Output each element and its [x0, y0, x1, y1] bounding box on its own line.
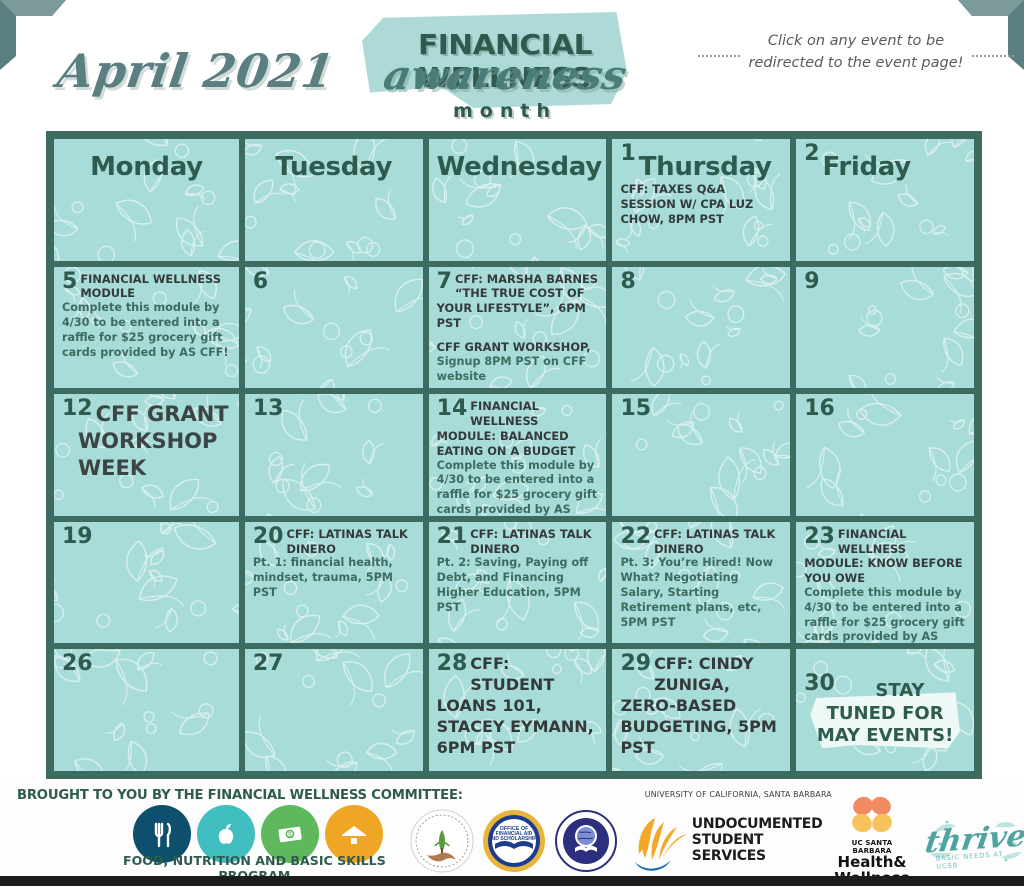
logo-fnbsp: $ FOOD, NUTRITION AND BASIC SKILLS PROGR… [114, 805, 403, 877]
event-text[interactable]: CFF GRANT WORKSHOP, [437, 340, 599, 355]
sponsor-logos: $ FOOD, NUTRITION AND BASIC SKILLS PROGR… [14, 804, 1014, 878]
calendar-day-cell[interactable]: 14FINANCIAL WELLNESS MODULE: BALANCED EA… [429, 394, 607, 516]
day-number: 16 [804, 399, 835, 420]
weekday-header-wednesday: Wednesday [437, 144, 599, 182]
click-hint-text: Click on any event to be redirected to t… [736, 30, 976, 75]
day-number: 9 [804, 272, 819, 293]
calendar-grid: Monday Tuesday [46, 131, 982, 779]
day-number: 2 [804, 144, 819, 165]
cell-content: Monday [62, 144, 231, 182]
weekday-header-thursday: Thursday [620, 144, 782, 182]
cell-content: 29CFF: CINDY ZUNIGA, ZERO-BASED BUDGETIN… [620, 654, 782, 758]
cell-content: 30STAY TUNED FOR MAY EVENTS! [804, 674, 966, 754]
event-text[interactable]: FINANCIAL WELLNESS MODULE [62, 272, 231, 302]
calendar-day-cell[interactable]: 29CFF: CINDY ZUNIGA, ZERO-BASED BUDGETIN… [612, 649, 790, 771]
event-text[interactable]: Complete this module by 4/30 to be enter… [437, 459, 599, 516]
butterfly-icon [841, 796, 903, 834]
cell-content: Tuesday [253, 144, 415, 182]
calendar-day-cell: 9 [796, 267, 974, 389]
day-number: 26 [62, 654, 93, 675]
calendar-header-cell: Tuesday [245, 139, 423, 261]
logo-financial-aid-seal: OFFICE OF FINANCIAL AID AND SCHOLARSHIPS [481, 808, 547, 874]
uss-line2: STUDENT [692, 833, 823, 849]
calendar-day-cell: 26 [54, 649, 239, 771]
calendar-day-cell: 19 [54, 522, 239, 644]
stay-tuned-block: STAY TUNED FOR MAY EVENTS! [804, 674, 966, 754]
calendar-day-cell: 16 [796, 394, 974, 516]
calendar-day-cell: 15 [612, 394, 790, 516]
day-number: 20 [253, 527, 284, 548]
dotted-line-right-icon [972, 55, 1014, 57]
day-number: 8 [620, 272, 635, 293]
day-number: 1 [620, 144, 635, 165]
cell-content: 12CFF GRANT WORKSHOP WEEK [62, 399, 231, 482]
calendar-day-cell: 27 [245, 649, 423, 771]
calendar-day-cell[interactable]: 1ThursdayCFF: TAXES Q&A SESSION W/ CPA L… [612, 139, 790, 261]
floral-pattern-icon [796, 267, 974, 389]
day-number: 28 [437, 654, 468, 675]
campaign-title-line3: month [340, 100, 670, 122]
calendar-day-cell[interactable]: 21CFF: LATINAS TALK DINEROPt. 2: Saving,… [429, 522, 607, 644]
weekday-header-friday: Friday [804, 144, 966, 182]
calendar-day-cell[interactable]: 5FINANCIAL WELLNESS MODULEComplete this … [54, 267, 239, 389]
day-number: 23 [804, 527, 835, 548]
cell-content: Wednesday [437, 144, 599, 182]
footer-title: BROUGHT TO YOU BY THE FINANCIAL WELLNESS… [17, 788, 463, 803]
page-footer: BROUGHT TO YOU BY THE FINANCIAL WELLNESS… [0, 782, 1024, 878]
weekday-header-monday: Monday [62, 144, 231, 182]
day-number: 29 [620, 654, 651, 675]
event-text[interactable]: Signup 8PM PST on CFF website [437, 355, 599, 385]
cell-content: 28CFF: STUDENT LOANS 101, STACEY EYMANN,… [437, 654, 599, 758]
weekday-header-tuesday: Tuesday [253, 144, 415, 182]
day-number: 21 [437, 527, 468, 548]
cell-content: 20CFF: LATINAS TALK DINEROPt. 1: financi… [253, 527, 415, 601]
bottom-strip [0, 876, 1024, 886]
logo-as-cff-seal [409, 808, 475, 874]
svg-text:$: $ [288, 832, 292, 839]
day-number: 5 [62, 272, 77, 293]
uss-line1: UNDOCUMENTED [692, 817, 823, 833]
cell-content: 21CFF: LATINAS TALK DINEROPt. 2: Saving,… [437, 527, 599, 616]
event-text[interactable]: Pt. 3: You’re Hired! Now What? Negotiati… [620, 556, 782, 630]
calendar-header-cell: Monday [54, 139, 239, 261]
calendar-day-cell: 2Friday [796, 139, 974, 261]
day-number: 22 [620, 527, 651, 548]
cell-content: 14FINANCIAL WELLNESS MODULE: BALANCED EA… [437, 399, 599, 516]
calendar-day-cell[interactable]: 22CFF: LATINAS TALK DINEROPt. 3: You’re … [612, 522, 790, 644]
cell-content: 1ThursdayCFF: TAXES Q&A SESSION W/ CPA L… [620, 144, 782, 226]
page-header: April 2021 FINANCIAL WELLNESS awareness … [0, 0, 1024, 130]
cell-content: 22CFF: LATINAS TALK DINEROPt. 3: You’re … [620, 527, 782, 631]
event-text[interactable]: CFF: TAXES Q&A SESSION W/ CPA LUZ CHOW, … [620, 182, 782, 226]
day-number: 19 [62, 527, 93, 548]
day-number: 15 [620, 399, 651, 420]
cell-content: 5FINANCIAL WELLNESS MODULEComplete this … [62, 272, 231, 361]
day-number: 7 [437, 272, 452, 293]
calendar-day-cell[interactable]: 30STAY TUNED FOR MAY EVENTS! [796, 649, 974, 771]
day-number: 27 [253, 654, 284, 675]
calendar-day-cell[interactable]: 23FINANCIAL WELLNESS MODULE: KNOW BEFORE… [796, 522, 974, 644]
day-number: 12 [62, 399, 93, 420]
event-text[interactable]: Complete this module by 4/30 to be enter… [804, 586, 966, 643]
campaign-title-block: FINANCIAL WELLNESS awareness month [340, 8, 670, 126]
calendar-day-cell[interactable]: 7CFF: MARSHA BARNES “THE TRUE COST OF YO… [429, 267, 607, 389]
dotted-line-left-icon [698, 55, 740, 57]
uss-line3: SERVICES [692, 849, 823, 865]
event-text[interactable]: CFF: MARSHA BARNES “THE TRUE COST OF YOU… [437, 272, 599, 331]
click-hint-label: Click on any event to be redirected to t… [749, 33, 964, 71]
event-text[interactable]: Pt. 2: Saving, Paying off Debt, and Fina… [437, 556, 599, 615]
event-text[interactable]: Pt. 1: financial health, mindset, trauma… [253, 556, 415, 600]
cell-content: 2Friday [804, 144, 966, 182]
uss-university-label: UNIVERSITY OF CALIFORNIA, SANTA BARBARA [645, 790, 832, 799]
floral-pattern-icon [245, 267, 423, 389]
svg-text:AND SCHOLARSHIPS: AND SCHOLARSHIPS [488, 836, 541, 842]
logo-eop-seal [553, 808, 619, 874]
stay-tuned-label: STAY TUNED FOR MAY EVENTS! [804, 674, 966, 754]
floral-pattern-icon [612, 267, 790, 389]
calendar-day-cell: 8 [612, 267, 790, 389]
calendar-day-cell: 13 [245, 394, 423, 516]
calendar-day-cell: 6 [245, 267, 423, 389]
event-text[interactable]: Complete this module by 4/30 to be enter… [62, 301, 231, 360]
calendar-day-cell[interactable]: 20CFF: LATINAS TALK DINEROPt. 1: financi… [245, 522, 423, 644]
cell-content: 7CFF: MARSHA BARNES “THE TRUE COST OF YO… [437, 272, 599, 385]
campaign-title-line2: awareness [329, 52, 680, 99]
logo-health-wellness: UC SANTA BARBARA Health& Wellness [834, 796, 909, 887]
calendar-day-cell[interactable]: 28CFF: STUDENT LOANS 101, STACEY EYMANN,… [429, 649, 607, 771]
cell-content: 23FINANCIAL WELLNESS MODULE: KNOW BEFORE… [804, 527, 966, 644]
day-number: 6 [253, 272, 268, 293]
calendar-day-cell[interactable]: 12CFF GRANT WORKSHOP WEEK [54, 394, 239, 516]
day-number: 14 [437, 399, 468, 420]
day-number: 13 [253, 399, 284, 420]
sunburst-icon [629, 810, 689, 872]
logo-undocumented-student-services: UNIVERSITY OF CALIFORNIA, SANTA BARBARA … [629, 810, 823, 872]
page-title: April 2021 [54, 44, 338, 98]
calendar-header-cell: Wednesday [429, 139, 607, 261]
logo-thrive: thrive BASIC NEEDS AT UCSB [922, 810, 1014, 872]
calendar-page: April 2021 FINANCIAL WELLNESS awareness … [0, 0, 1024, 886]
